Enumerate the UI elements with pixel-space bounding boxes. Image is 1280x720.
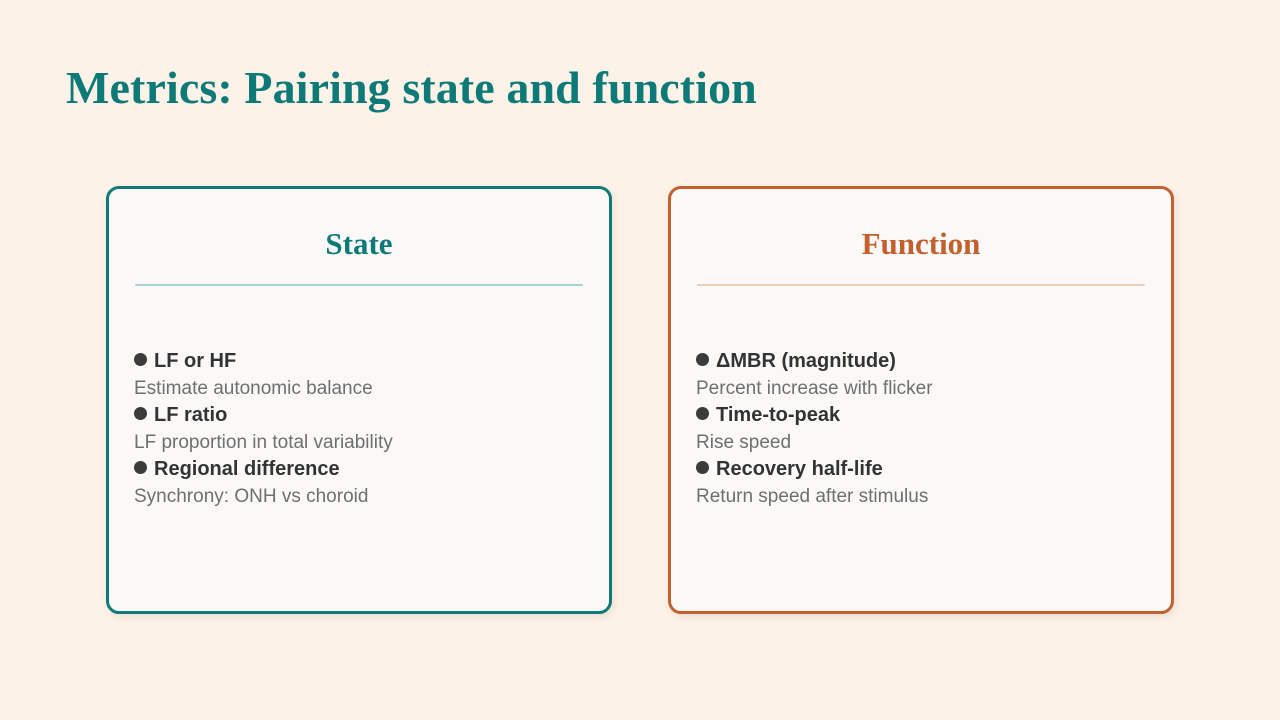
metric-label-text: Time-to-peak [716, 404, 840, 426]
filled-circle-bullet-icon [696, 461, 709, 474]
metric-label: ΔMBR (magnitude) [696, 348, 1153, 375]
list-item: ΔMBR (magnitude) Percent increase with f… [696, 348, 1153, 402]
filled-circle-bullet-icon [696, 407, 709, 420]
list-item: Time-to-peak Rise speed [696, 402, 1153, 456]
metric-label-text: Recovery half-life [716, 458, 883, 480]
metric-description: LF proportion in total variability [134, 429, 591, 456]
list-item: LF ratio LF proportion in total variabil… [134, 402, 591, 456]
metric-description: Synchrony: ONH vs choroid [134, 483, 591, 510]
card-function-header: Function [671, 225, 1171, 262]
metric-label: LF ratio [134, 402, 591, 429]
metric-label: Regional difference [134, 456, 591, 483]
card-state-divider [135, 284, 583, 286]
filled-circle-bullet-icon [134, 407, 147, 420]
metric-label: Recovery half-life [696, 456, 1153, 483]
list-item: Regional difference Synchrony: ONH vs ch… [134, 456, 591, 510]
metric-label-text: Regional difference [154, 458, 340, 480]
metric-label: Time-to-peak [696, 402, 1153, 429]
filled-circle-bullet-icon [134, 461, 147, 474]
metric-label-text: ΔMBR (magnitude) [716, 350, 896, 372]
filled-circle-bullet-icon [134, 353, 147, 366]
card-function-body: ΔMBR (magnitude) Percent increase with f… [696, 348, 1171, 510]
metric-description: Return speed after stimulus [696, 483, 1153, 510]
page-title: Metrics: Pairing state and function [66, 62, 757, 115]
metric-description: Rise speed [696, 429, 1153, 456]
card-state: State LF or HF Estimate autonomic balanc… [106, 186, 612, 614]
metric-description: Percent increase with flicker [696, 375, 1153, 402]
filled-circle-bullet-icon [696, 353, 709, 366]
card-state-header: State [109, 225, 609, 262]
metric-label: LF or HF [134, 348, 591, 375]
card-function-divider [697, 284, 1145, 286]
cards-row: State LF or HF Estimate autonomic balanc… [106, 186, 1174, 614]
list-item: LF or HF Estimate autonomic balance [134, 348, 591, 402]
card-state-body: LF or HF Estimate autonomic balance LF r… [134, 348, 609, 510]
metric-label-text: LF ratio [154, 404, 227, 426]
card-function: Function ΔMBR (magnitude) Percent increa… [668, 186, 1174, 614]
list-item: Recovery half-life Return speed after st… [696, 456, 1153, 510]
metric-label-text: LF or HF [154, 350, 236, 372]
metric-description: Estimate autonomic balance [134, 375, 591, 402]
